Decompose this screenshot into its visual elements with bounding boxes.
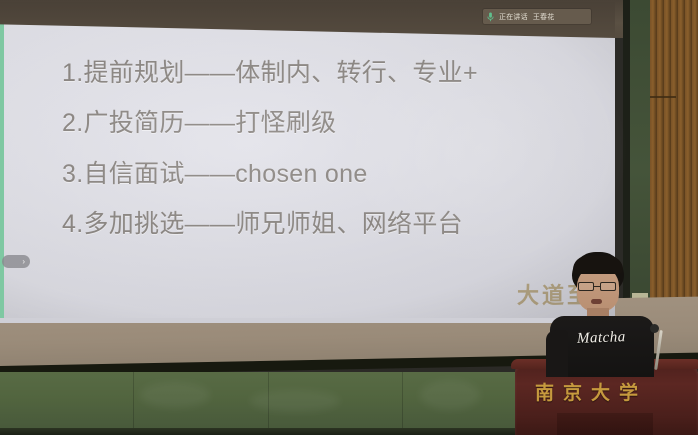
podium-base [557,413,653,435]
presenter-mouth [591,299,602,304]
slide-line-3: 3.自信面试——chosen one [62,161,602,187]
microphone-head [650,324,659,333]
presenter-fringe [573,256,623,274]
screen-bottom-edge [0,318,615,323]
slide-line-2: 2.广投简历——打怪刷级 [62,110,602,136]
speaking-status-bar[interactable]: 正在讲话 王春花 [483,9,591,24]
wood-slat-panel [650,0,698,340]
chevron-right-icon: › [22,258,25,266]
panel-expand-handle[interactable]: › [2,255,30,268]
slide-line-4: 4.多加挑选——师兄师姐、网络平台 [62,211,602,237]
slide-body: 1.提前规划——体制内、转行、专业+ 2.广投简历——打怪刷级 3.自信面试——… [62,60,602,261]
projection-surface: 1.提前规划——体制内、转行、专业+ 2.广投简历——打怪刷级 3.自信面试——… [4,2,615,318]
presenter-arm [546,330,568,377]
speaker-name: 王春花 [533,12,555,22]
slide-line-1: 1.提前规划——体制内、转行、专业+ [62,60,602,86]
jacket-brand-text: Matcha [577,329,626,348]
screenshot-stage: 1.提前规划——体制内、转行、专业+ 2.广投简历——打怪刷级 3.自信面试——… [0,0,698,435]
microphone-icon [487,12,494,22]
presenter: Matcha [556,252,652,377]
podium-engraving: 南京大学 [535,378,698,405]
speaking-label: 正在讲话 [499,12,528,22]
glasses-icon [578,282,619,291]
status-bar-spacer [559,13,585,21]
projection-screen: 1.提前规划——体制内、转行、专业+ 2.广投简历——打怪刷级 3.自信面试——… [0,2,615,320]
